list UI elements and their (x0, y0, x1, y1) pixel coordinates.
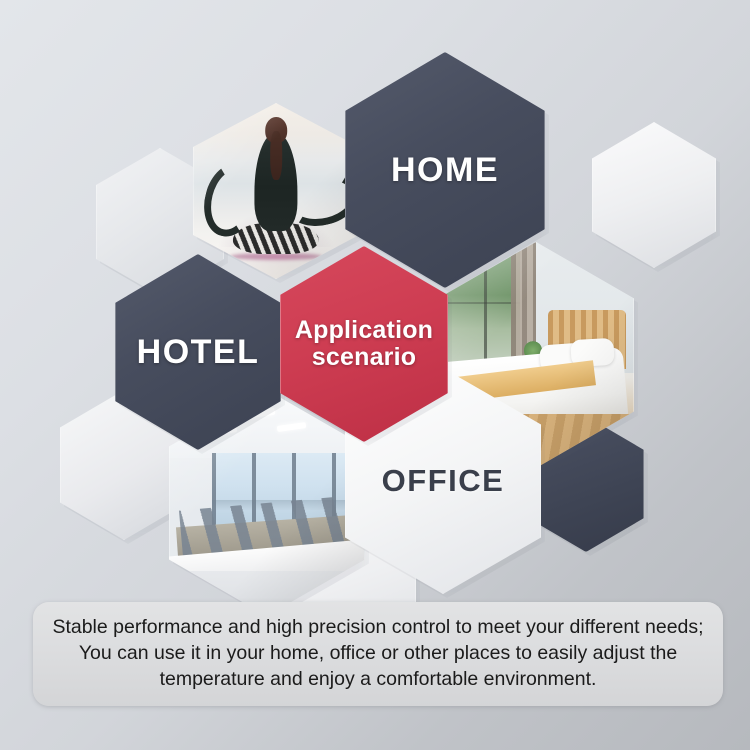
caption-text: Stable performance and high precision co… (49, 615, 707, 693)
scenario-label-office: OFFICE (382, 464, 505, 497)
center-label: Application scenario (295, 317, 433, 371)
yoga-hair (270, 131, 282, 180)
scenario-label-home: HOME (391, 152, 499, 189)
caption-panel: Stable performance and high precision co… (33, 602, 723, 706)
center-label-line2: scenario (312, 343, 416, 371)
promo-graphic: OFFICE HOTEL Application scenario HOME S… (0, 0, 750, 750)
scenario-label-hotel: HOTEL (137, 334, 260, 371)
center-label-line1: Application (295, 316, 433, 344)
